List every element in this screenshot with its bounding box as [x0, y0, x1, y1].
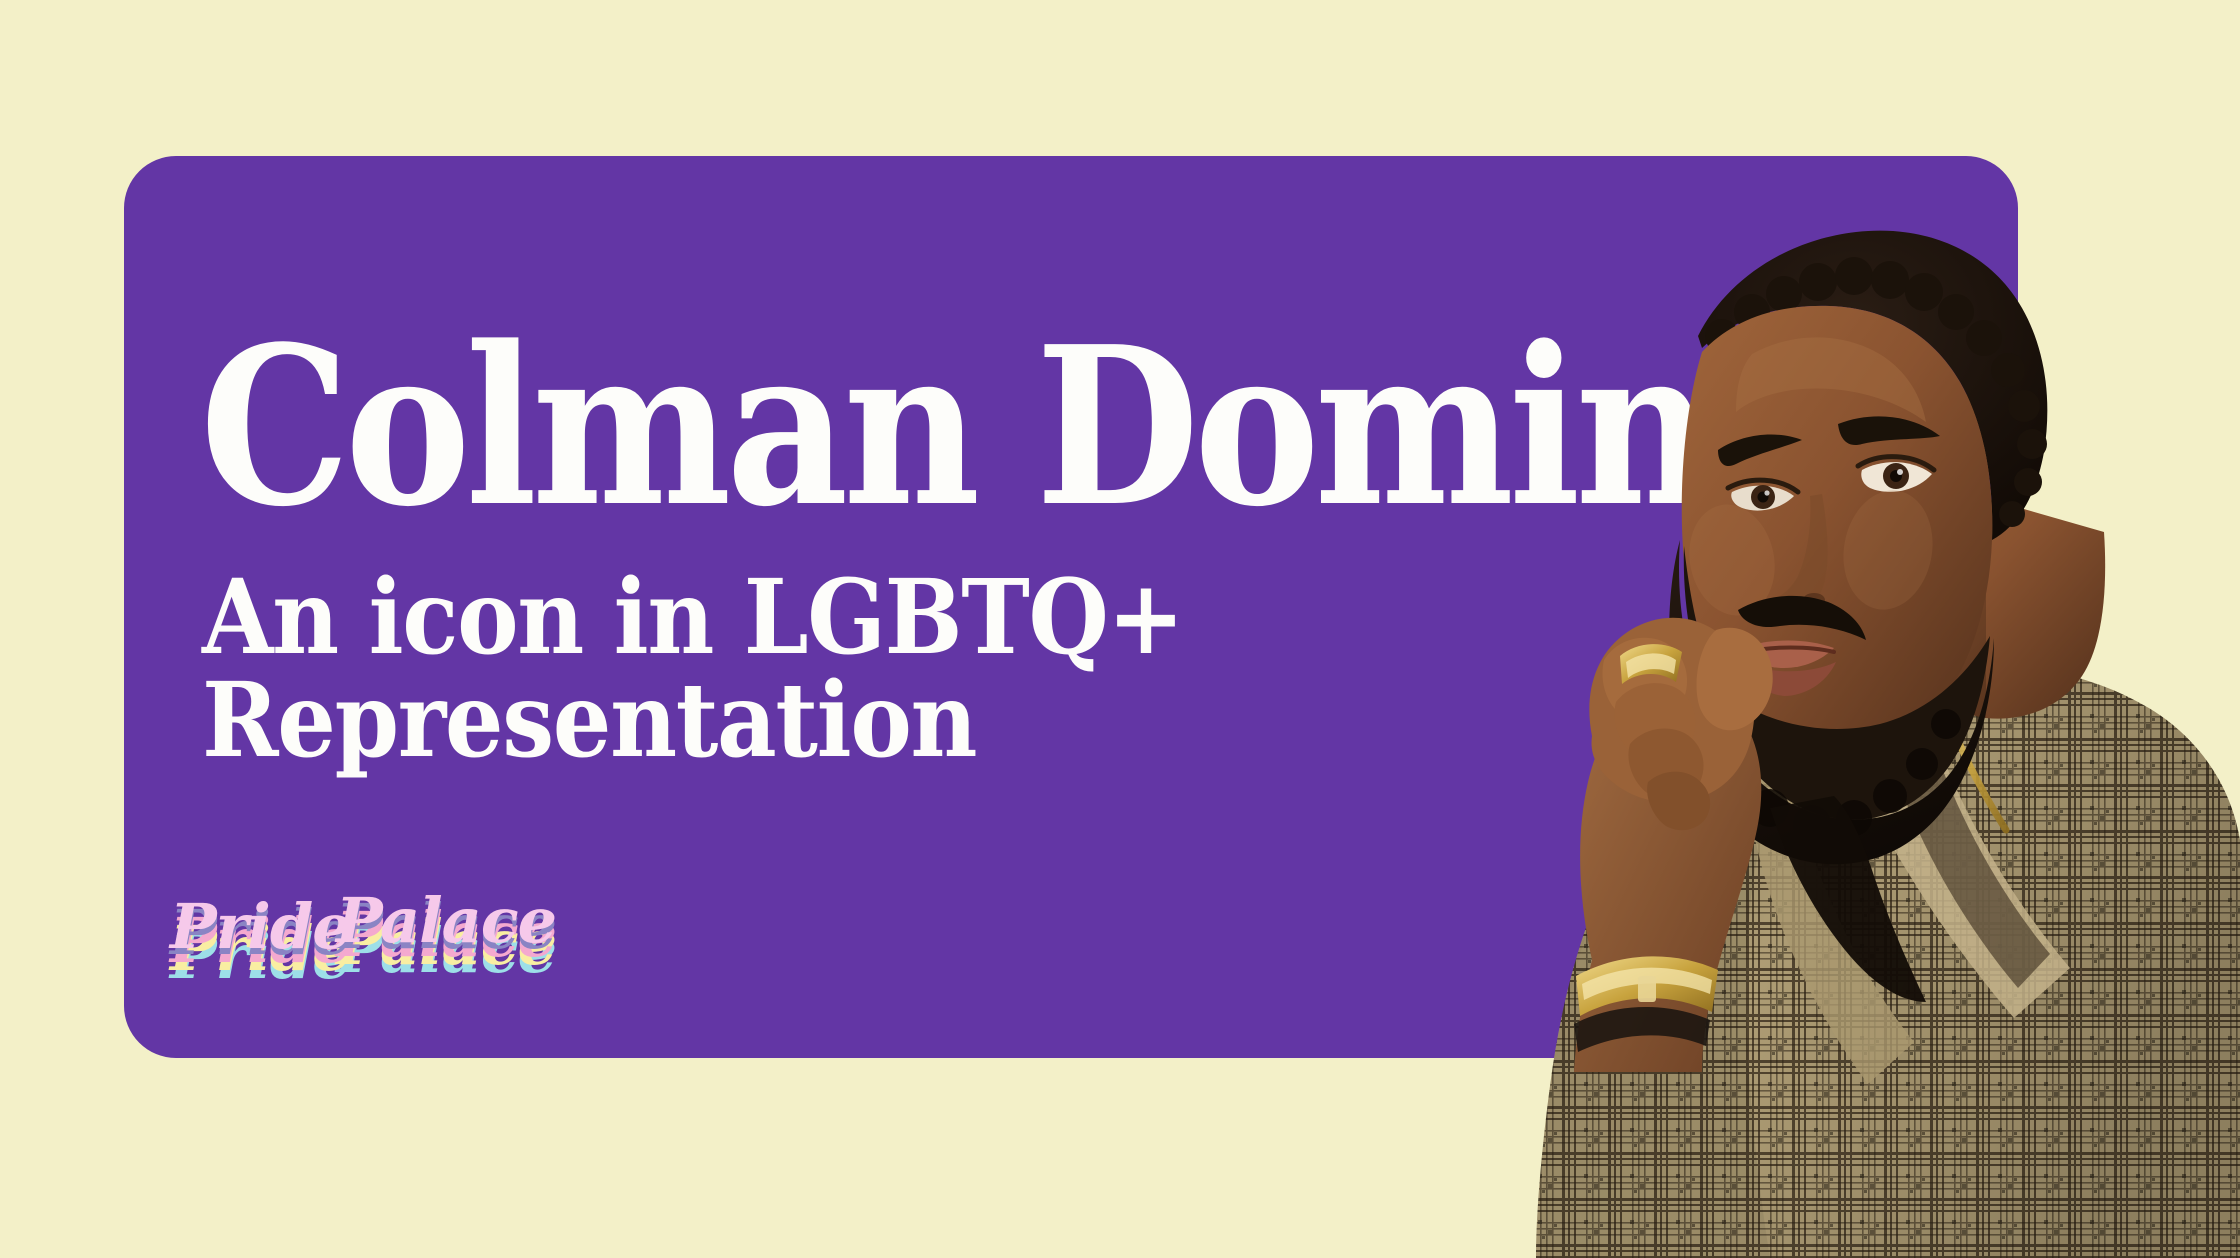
- pride-palace-logo[interactable]: Pride Palace Pride Palace Pride Palace P…: [150, 876, 550, 1006]
- logo-word-pride: Pride: [168, 890, 351, 963]
- subheadline-line-2: Representation: [202, 669, 1276, 772]
- subheadline-line-1: An icon in LGBTQ+: [202, 566, 1276, 669]
- subheadline-block: An icon in LGBTQ+ Representation: [202, 566, 1402, 772]
- logo-face-layer: Pride Palace: [168, 884, 556, 963]
- page-title: Colman Domingo: [200, 332, 1549, 524]
- logo-word-palace: Palace: [334, 884, 556, 957]
- portrait-photo: [1470, 140, 2240, 1258]
- poster-canvas: Colman Domingo An icon in LGBTQ+ Represe…: [0, 0, 2240, 1258]
